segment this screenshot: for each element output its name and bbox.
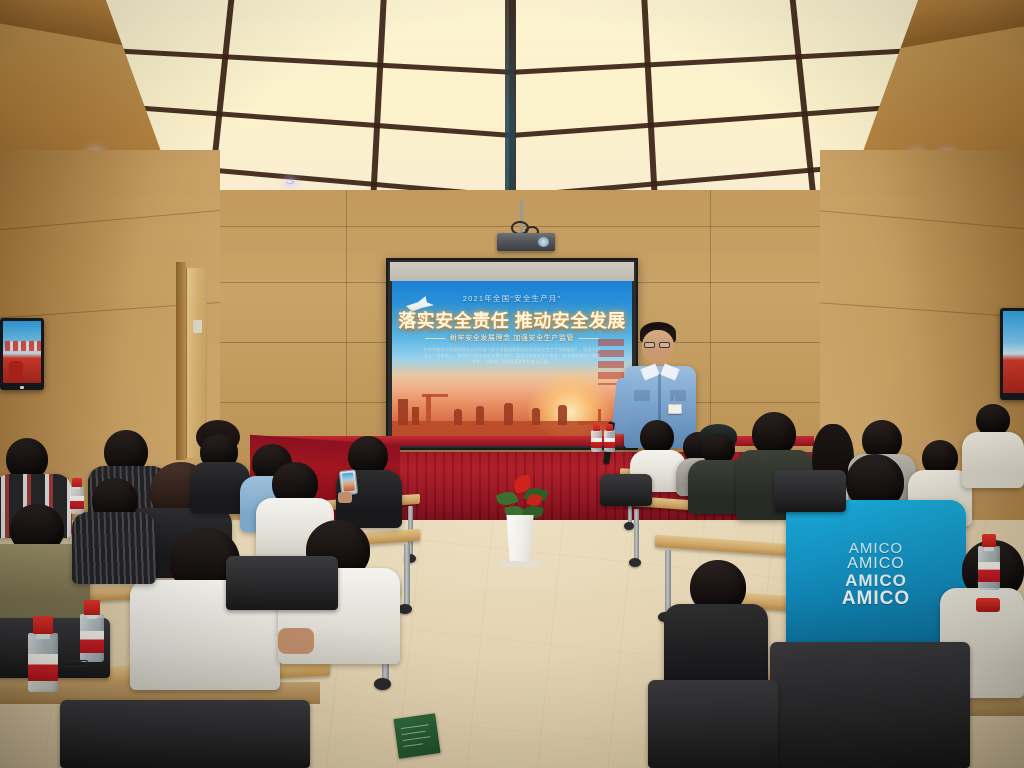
- desk-r2-castor: [629, 558, 641, 567]
- smartphone-screen: [342, 472, 355, 491]
- amico-line-4: AMICO: [786, 589, 966, 608]
- bottle-cap: [72, 478, 82, 487]
- audience-hand-phone: [338, 492, 352, 503]
- ceiling-grid-h1l: [95, 47, 515, 75]
- bottle-cap: [606, 424, 614, 431]
- audience-torso-f8: [962, 432, 1024, 488]
- presenter-id-badge: [668, 404, 682, 414]
- bottle-label: [604, 438, 615, 448]
- plant-tray: [498, 561, 542, 567]
- folder-line-4: [403, 743, 423, 747]
- slide-kicker-text: 2021年全国“安全生产月”: [392, 293, 632, 304]
- slide-person-2: [476, 406, 484, 425]
- subline-rule-right: [579, 338, 599, 339]
- chair-right-3[interactable]: [774, 470, 846, 512]
- slide-bridge-pylon: [598, 409, 601, 423]
- water-bottle-right-1[interactable]: [978, 534, 1000, 590]
- slide-building-2: [412, 407, 419, 425]
- presenter-glasses-right: [659, 342, 670, 348]
- desk-l2-castor: [398, 604, 412, 614]
- chair-center-1[interactable]: [600, 474, 652, 506]
- folder-line-1: [401, 724, 429, 729]
- monitor-left-text: [5, 341, 41, 351]
- chair-foreground-right[interactable]: [770, 642, 970, 768]
- desk-r1-castor: [624, 522, 634, 530]
- projector-lens-icon: [538, 237, 549, 247]
- audience-hand-m2: [278, 628, 314, 654]
- projection-screen-top-band: [390, 262, 634, 281]
- amico-tshirt: AMICO AMICO AMICO AMICO: [786, 500, 966, 656]
- wall-monitor-right-screen: [1003, 311, 1024, 393]
- lecture-hall-photo: 2021年全国“安全生产月” 落实安全责任 推动安全发展 树牢安全发展理念 加强…: [0, 0, 1024, 768]
- water-bottle-left-2[interactable]: [80, 600, 104, 662]
- wall-monitor-right[interactable]: [1000, 308, 1024, 400]
- bottle-label: [978, 562, 1000, 582]
- ceiling-grid-h2r: [511, 104, 910, 138]
- bottle-cap: [982, 534, 997, 547]
- desk-l2-leg: [404, 544, 410, 608]
- chair-foreground-left[interactable]: [60, 700, 310, 768]
- presenter-pocket-right: [670, 390, 686, 401]
- slide-crane: [426, 395, 431, 425]
- bottle-cap: [593, 424, 601, 431]
- right-wall-seam-2: [820, 302, 1024, 318]
- bottle-label: [591, 438, 602, 448]
- audience-head-f1: [640, 420, 674, 454]
- slide-crane-arm: [422, 394, 448, 397]
- monitor-left-figure: [9, 361, 23, 381]
- amico-line-1: AMICO: [786, 541, 966, 556]
- water-bottle-left-1[interactable]: [28, 616, 58, 692]
- water-bottle-right-2-cap[interactable]: [976, 598, 1000, 612]
- slide-headline-text: 落实安全责任 推动安全发展: [392, 307, 632, 333]
- door-frame-left: [176, 262, 186, 460]
- water-bottle-left-3[interactable]: [70, 478, 84, 514]
- slide-person-5: [558, 405, 567, 425]
- slide-building-1: [398, 399, 408, 425]
- slide-person-4: [532, 408, 540, 425]
- slide-person-1: [454, 409, 462, 425]
- subline-rule-left: [425, 338, 445, 339]
- water-bottle-stage-2: [604, 424, 615, 452]
- downlight-11: [286, 180, 294, 184]
- left-wall-seam-1: [0, 210, 220, 231]
- ceiling-grid-h1r: [509, 47, 929, 75]
- presentation-slide: 2021年全国“安全生产月” 落实安全责任 推动安全发展 树牢安全发展理念 加强…: [392, 281, 632, 443]
- presenter-collar-right: [660, 363, 679, 380]
- presenter-pocket-left: [634, 390, 650, 401]
- desk-l3-castor: [374, 678, 391, 690]
- amico-text-stack: AMICO AMICO AMICO AMICO: [786, 541, 966, 609]
- amico-line-2: AMICO: [786, 556, 966, 572]
- chair-right-2[interactable]: [648, 680, 778, 768]
- door-hinge-icon: [193, 320, 202, 333]
- bottle-cap: [84, 600, 100, 615]
- desk-r2-leg: [634, 509, 639, 561]
- audience-torso-m4: [72, 512, 156, 584]
- bottle-cap: [33, 616, 53, 634]
- ceiling-grid-h2l: [114, 104, 513, 138]
- water-bottle-stage-1: [591, 424, 602, 452]
- folder-line-3: [402, 736, 430, 741]
- presenter-collar-left: [640, 363, 659, 380]
- presenter-badge-lanyard: [674, 396, 675, 405]
- amico-line-3: AMICO: [786, 572, 966, 589]
- chair-left-2[interactable]: [226, 556, 338, 610]
- wall-monitor-left-stand: [20, 386, 24, 389]
- green-notebook[interactable]: [393, 713, 440, 758]
- wall-monitor-left-screen: [3, 321, 41, 383]
- slide-subline-text: 树牢安全发展理念 加强安全生产监管: [392, 333, 632, 343]
- presenter-glasses-left: [644, 342, 655, 348]
- subline-label: 树牢安全发展理念 加强安全生产监管: [450, 335, 574, 342]
- slide-person-3: [504, 403, 513, 425]
- bottle-label: [70, 496, 84, 509]
- wall-monitor-left[interactable]: [0, 318, 44, 390]
- right-wall-seam-1: [820, 210, 1024, 230]
- eyeglasses[interactable]: [62, 660, 88, 667]
- bottle-label: [28, 654, 58, 681]
- folder-line-2: [402, 731, 426, 735]
- slide-body-text: 中共中央办公厅国务院办公厅印发《关于全面加强危险化学品安全生产工作的意见》，坚持…: [422, 347, 602, 366]
- bottle-label: [80, 631, 104, 653]
